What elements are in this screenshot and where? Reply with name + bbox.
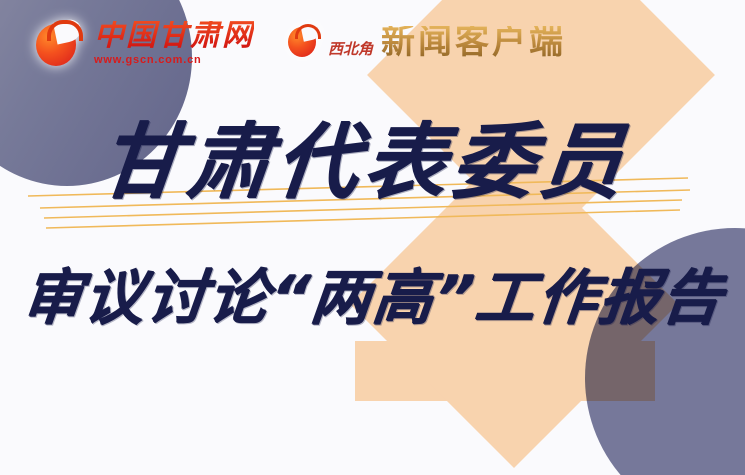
headline-sub: 审议讨论“两高”工作报告 xyxy=(19,268,727,328)
secondary-brand-block: 西北角 新闻客户端 xyxy=(328,26,566,60)
secondary-brand-app-name: 新闻客户端 xyxy=(381,26,566,60)
primary-brand-block: 中国甘肃网 www.gscn.com.cn xyxy=(94,21,254,66)
flame-hook-shape xyxy=(47,20,83,41)
gansu-net-flame-logo-icon xyxy=(34,18,80,68)
header-logo-bar: 中国甘肃网 www.gscn.com.cn 西北角 新闻客户端 xyxy=(0,0,745,86)
headline-main: 甘肃代表委员 xyxy=(96,122,633,204)
primary-brand-name: 中国甘肃网 xyxy=(94,21,254,51)
poster-canvas: 中国甘肃网 www.gscn.com.cn 西北角 新闻客户端 甘肃代表委员 审… xyxy=(0,0,745,475)
xibeijiao-flame-logo-icon xyxy=(286,23,320,63)
primary-brand-url: www.gscn.com.cn xyxy=(94,54,254,66)
secondary-brand-corner-mark: 西北角 xyxy=(328,43,373,60)
